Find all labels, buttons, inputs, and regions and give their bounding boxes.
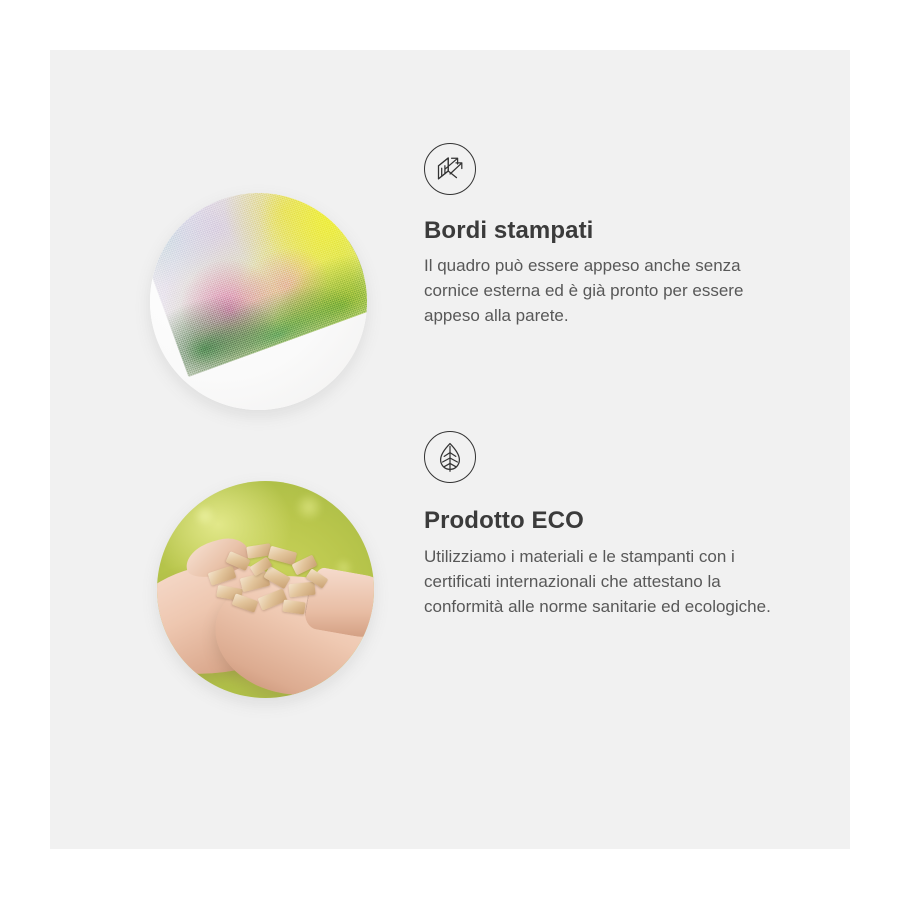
printed-edges-icon [424,143,476,195]
feature-description: Utilizziamo i materiali e le stampanti c… [424,544,796,619]
canvas-photo-surface [150,193,367,410]
feature-block-eco-product: Prodotto ECO Utilizziamo i materiali e l… [50,431,850,731]
eco-hands-photo [157,481,374,698]
feature-description: Il quadro può essere appeso anche senza … [424,253,796,328]
leaf-icon [424,431,476,483]
feature-copy-eco-product: Prodotto ECO Utilizziamo i materiali e l… [424,431,824,619]
canvas-corner-photo [150,193,367,410]
wood-chips-pile [203,539,337,623]
feature-block-printed-edges: Bordi stampati Il quadro può essere appe… [50,143,850,433]
feature-title: Bordi stampati [424,217,824,245]
product-feature-page: Bordi stampati Il quadro può essere appe… [0,0,900,900]
feature-copy-printed-edges: Bordi stampati Il quadro può essere appe… [424,143,824,328]
eco-photo-surface [157,481,374,698]
feature-title: Prodotto ECO [424,507,824,535]
